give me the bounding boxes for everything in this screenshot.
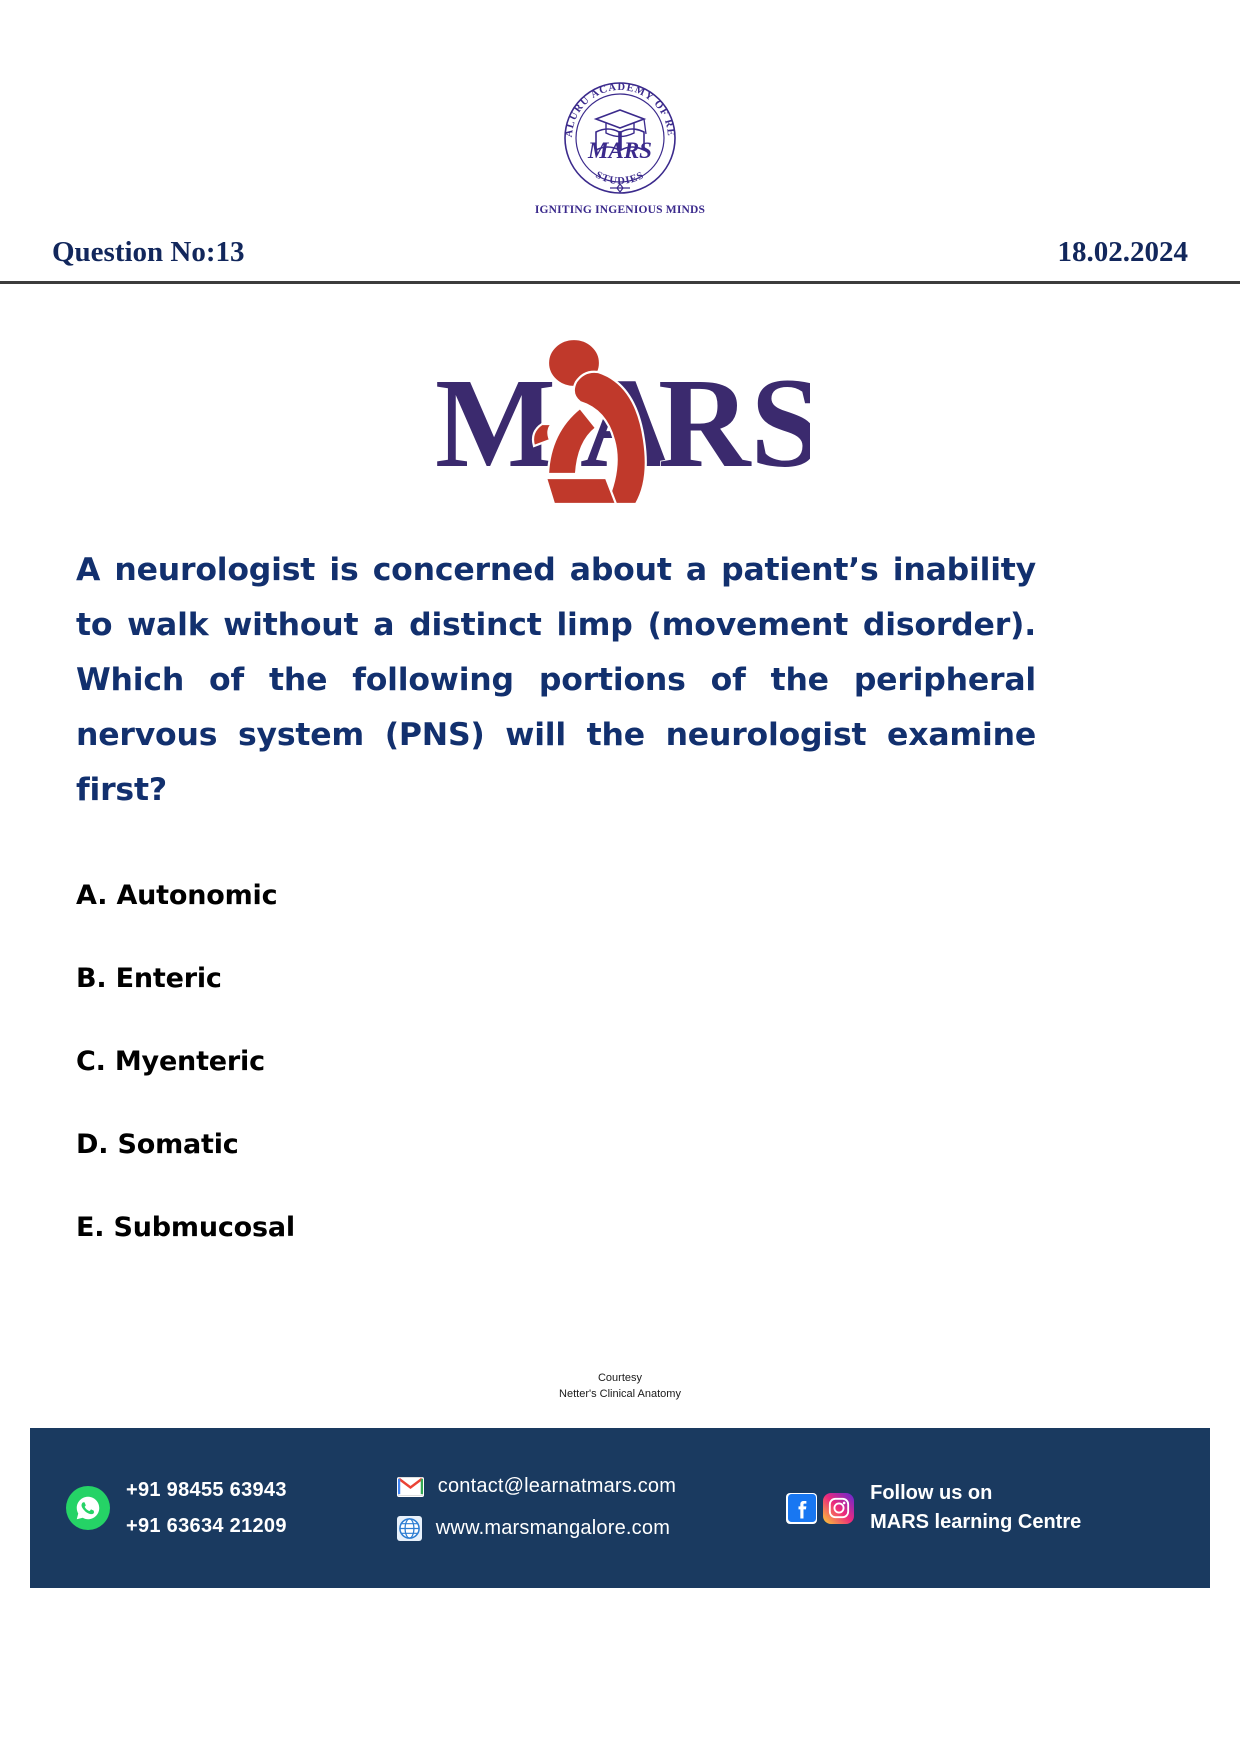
website-row[interactable]: www.marsmangalore.com	[397, 1516, 676, 1541]
phone-numbers: +91 98455 63943 +91 63634 21209	[126, 1472, 287, 1544]
svg-text:MANGALURU ACADEMY OF REFINED: MANGALURU ACADEMY OF REFINED	[558, 76, 676, 138]
follow-us-text: Follow us on MARS learning Centre	[870, 1479, 1081, 1537]
instagram-icon[interactable]	[823, 1493, 854, 1524]
courtesy-label: Courtesy	[0, 1370, 1240, 1386]
option-e[interactable]: E. Submucosal	[76, 1212, 1036, 1243]
email-address[interactable]: contact@learnatmars.com	[438, 1475, 676, 1498]
answer-options-list: A. Autonomic B. Enteric C. Myenteric D. …	[76, 880, 1036, 1295]
footer-social-group: Follow us on MARS learning Centre	[786, 1479, 1081, 1537]
academy-tagline: IGNITING INGENIOUS MINDS	[535, 204, 705, 216]
phone-number-2[interactable]: +91 63634 21209	[126, 1508, 287, 1544]
follow-line-2: MARS learning Centre	[870, 1508, 1081, 1537]
gmail-icon	[397, 1477, 424, 1497]
academy-seal-icon: MANGALURU ACADEMY OF REFINED STUDIES MAR…	[558, 76, 682, 200]
svg-text:MARS: MARS	[587, 138, 652, 163]
social-icon-row	[786, 1493, 854, 1524]
academy-seal-block: MANGALURU ACADEMY OF REFINED STUDIES MAR…	[0, 76, 1240, 216]
header-row: Question No:13 18.02.2024	[52, 236, 1188, 275]
email-row[interactable]: contact@learnatmars.com	[397, 1475, 676, 1498]
question-number: Question No:13	[52, 236, 245, 269]
question-page: MANGALURU ACADEMY OF REFINED STUDIES MAR…	[0, 0, 1240, 1755]
facebook-icon[interactable]	[786, 1493, 817, 1524]
header-divider	[0, 281, 1240, 284]
phone-number-1[interactable]: +91 98455 63943	[126, 1472, 287, 1508]
globe-icon	[397, 1516, 422, 1541]
whatsapp-icon[interactable]	[66, 1486, 110, 1530]
option-c[interactable]: C. Myenteric	[76, 1046, 1036, 1077]
option-b[interactable]: B. Enteric	[76, 963, 1036, 994]
option-d[interactable]: D. Somatic	[76, 1129, 1036, 1160]
svg-text:M: M	[435, 352, 556, 494]
footer-bar: +91 98455 63943 +91 63634 21209 contact@…	[30, 1428, 1210, 1588]
question-text: A neurologist is concerned about a patie…	[76, 543, 1036, 818]
mars-wordmark-logo: M A RS	[0, 328, 1240, 508]
courtesy-block: Courtesy Netter's Clinical Anatomy	[0, 1370, 1240, 1402]
option-a[interactable]: A. Autonomic	[76, 880, 1036, 911]
question-date: 18.02.2024	[1058, 236, 1189, 269]
footer-contact-group: contact@learnatmars.com www.marsmangalor…	[397, 1475, 676, 1541]
website-url[interactable]: www.marsmangalore.com	[436, 1517, 670, 1540]
follow-line-1: Follow us on	[870, 1479, 1081, 1508]
courtesy-source: Netter's Clinical Anatomy	[0, 1386, 1240, 1402]
footer-phone-group: +91 98455 63943 +91 63634 21209	[66, 1472, 287, 1544]
svg-text:RS: RS	[658, 352, 810, 494]
